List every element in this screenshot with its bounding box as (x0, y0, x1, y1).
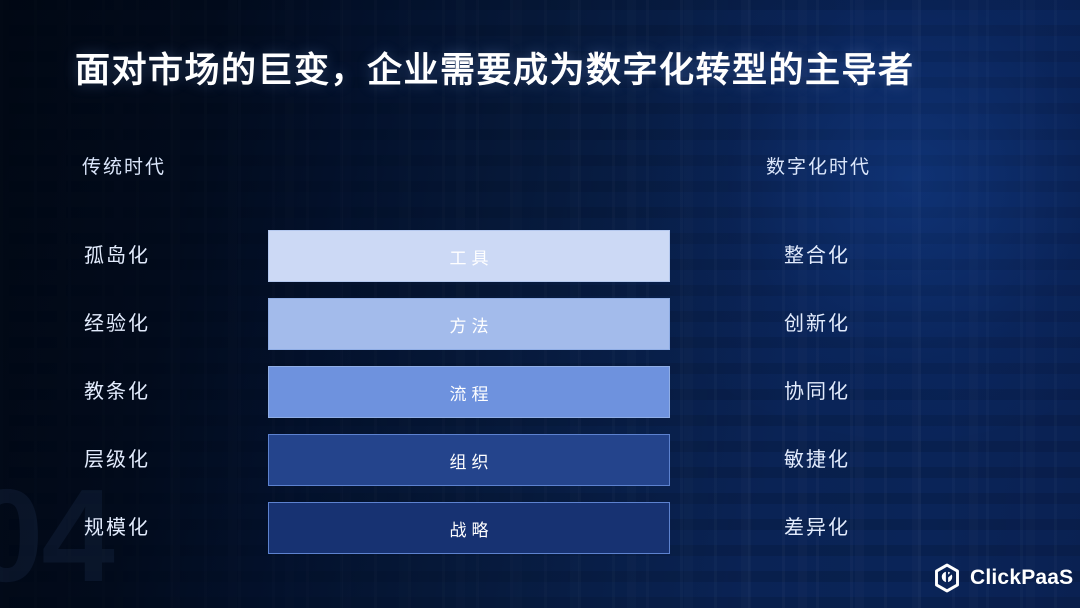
slide-canvas: 04 面对市场的巨变，企业需要成为数字化转型的主导者 传统时代 数字化时代 孤岛… (0, 0, 1080, 608)
comparison-row: 规模化 战略 差异化 (0, 502, 1080, 554)
traditional-label: 经验化 (84, 298, 150, 350)
center-bar[interactable]: 组织 (268, 434, 670, 486)
center-bar[interactable]: 工具 (268, 230, 670, 282)
digital-label: 差异化 (784, 502, 850, 554)
brand-name: ClickPaaS (970, 566, 1073, 590)
column-header-digital: 数字化时代 (766, 152, 871, 179)
center-bar-label: 方法 (445, 312, 494, 337)
center-bar[interactable]: 战略 (268, 502, 670, 554)
traditional-label: 教条化 (84, 366, 150, 418)
center-bar-label: 组织 (445, 448, 494, 473)
comparison-row: 教条化 流程 协同化 (0, 366, 1080, 418)
digital-label: 整合化 (784, 230, 850, 282)
traditional-label: 孤岛化 (84, 230, 150, 282)
page-title: 面对市场的巨变，企业需要成为数字化转型的主导者 (75, 42, 915, 93)
comparison-row: 经验化 方法 创新化 (0, 298, 1080, 350)
comparison-row: 层级化 组织 敏捷化 (0, 434, 1080, 486)
center-bar[interactable]: 流程 (268, 366, 670, 418)
center-bar-label: 战略 (445, 516, 494, 541)
traditional-label: 层级化 (84, 434, 150, 486)
center-bar-label: 工具 (445, 244, 494, 269)
brand-logo: ClickPaaS (932, 563, 1073, 593)
traditional-label: 规模化 (84, 502, 150, 554)
center-bar-label: 流程 (445, 380, 494, 405)
digital-label: 创新化 (784, 298, 850, 350)
hexagon-logo-icon (932, 563, 962, 593)
center-bar[interactable]: 方法 (268, 298, 670, 350)
comparison-row: 孤岛化 工具 整合化 (0, 230, 1080, 282)
comparison-rows: 孤岛化 工具 整合化 经验化 方法 创新化 教条化 流程 协同化 层级化 组织 (0, 230, 1080, 570)
digital-label: 敏捷化 (784, 434, 850, 486)
digital-label: 协同化 (784, 366, 850, 418)
column-header-traditional: 传统时代 (82, 152, 166, 179)
